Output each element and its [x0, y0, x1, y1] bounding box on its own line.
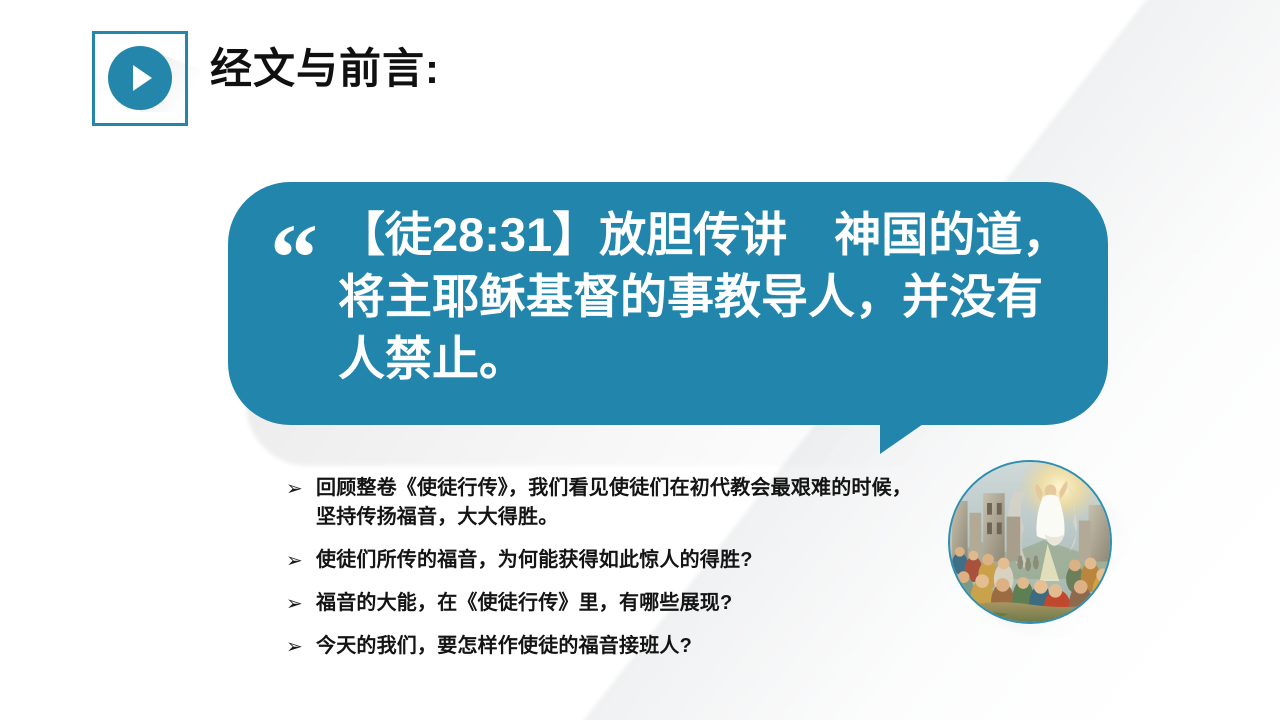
list-item: ➢ 福音的大能，在《使徒行传》里，有哪些展现?: [286, 589, 926, 618]
quote-bubble-tail: [880, 422, 932, 454]
play-button-icon[interactable]: [108, 46, 172, 110]
illustration: [948, 460, 1112, 624]
list-item-label: 回顾整卷《使徒行传》，我们看见使徒们在初代教会最艰难的时候，坚持传扬福音，大大得…: [316, 474, 926, 532]
quote-bubble: “ 【徒28:31】放胆传讲 神国的道，将主耶稣基督的事教导人，并没有人禁止。: [228, 182, 1108, 456]
list-item: ➢ 回顾整卷《使徒行传》，我们看见使徒们在初代教会最艰难的时候，坚持传扬福音，大…: [286, 474, 926, 532]
arrow-bullet-icon: ➢: [286, 474, 316, 503]
arrow-bullet-icon: ➢: [286, 546, 316, 575]
arrow-bullet-icon: ➢: [286, 632, 316, 661]
list-item: ➢ 使徒们所传的福音，为何能获得如此惊人的得胜?: [286, 546, 926, 575]
ascension-of-christ-painting: [948, 460, 1112, 624]
list-item-label: 福音的大能，在《使徒行传》里，有哪些展现?: [316, 589, 926, 618]
header: 经文与前言:: [0, 0, 1280, 150]
list-item-label: 今天的我们，要怎样作使徒的福音接班人?: [316, 632, 926, 661]
quote-text: 【徒28:31】放胆传讲 神国的道，将主耶稣基督的事教导人，并没有人禁止。: [338, 204, 1080, 390]
bullet-list: ➢ 回顾整卷《使徒行传》，我们看见使徒们在初代教会最艰难的时候，坚持传扬福音，大…: [286, 474, 926, 675]
quote-mark-icon: “: [270, 210, 314, 306]
list-item-label: 使徒们所传的福音，为何能获得如此惊人的得胜?: [316, 546, 926, 575]
list-item: ➢ 今天的我们，要怎样作使徒的福音接班人?: [286, 632, 926, 661]
arrow-bullet-icon: ➢: [286, 589, 316, 618]
page-title: 经文与前言:: [210, 48, 440, 90]
